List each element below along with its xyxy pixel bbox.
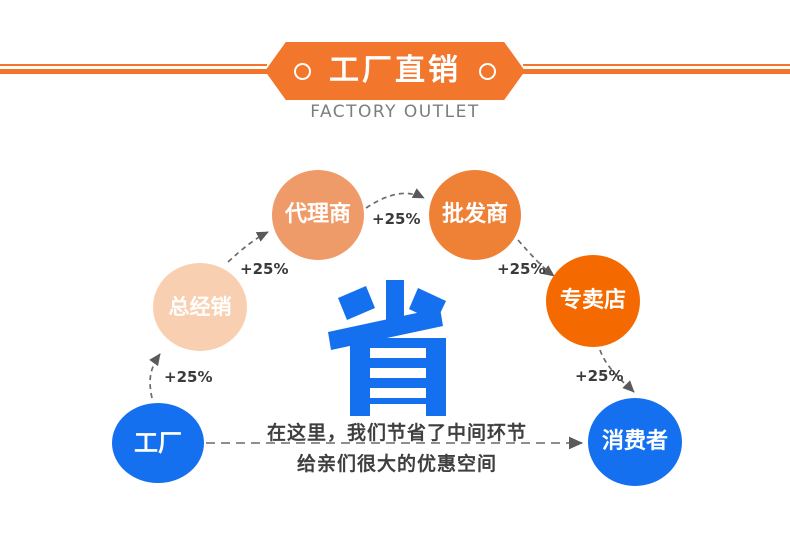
banner-hexagon: 工厂直销 xyxy=(265,42,525,100)
node-wholesaler[interactable]: 批发商 xyxy=(429,170,521,260)
tagline: 在这里，我们节省了中间环节 给亲们很大的优惠空间 xyxy=(232,418,562,480)
node-store[interactable]: 专卖店 xyxy=(546,255,640,347)
ring-icon-right xyxy=(479,63,496,80)
node-consumer-label: 消费者 xyxy=(602,431,668,453)
promo-banner-page: 工厂直销 FACTORY OUTLET xyxy=(0,0,790,549)
node-general-distributor[interactable]: 总经销 xyxy=(153,263,247,351)
markup-label-store-to-consumer: +25% xyxy=(575,367,623,385)
tagline-line-1: 在这里，我们节省了中间环节 xyxy=(232,418,562,449)
rule-thick-right xyxy=(523,69,790,74)
rule-thin-right xyxy=(523,64,790,66)
banner-subtitle: FACTORY OUTLET xyxy=(0,102,790,122)
arrow-agent-to-wholesaler xyxy=(366,193,424,208)
markup-label-general-to-agent: +25% xyxy=(240,260,288,278)
node-general-distributor-label: 总经销 xyxy=(169,297,232,318)
node-wholesaler-label: 批发商 xyxy=(442,204,508,226)
node-store-label: 专卖店 xyxy=(560,290,626,312)
node-agent[interactable]: 代理商 xyxy=(272,170,364,260)
rule-thin-left xyxy=(0,64,267,66)
tagline-line-2: 给亲们很大的优惠空间 xyxy=(232,449,562,480)
banner-rule-left xyxy=(0,64,275,76)
banner-rule-right xyxy=(515,64,790,76)
center-save-character xyxy=(322,268,482,428)
node-agent-label: 代理商 xyxy=(285,204,351,226)
banner-title: 工厂直销 xyxy=(329,56,461,86)
markup-label-wholesaler-to-store: +25% xyxy=(497,260,545,278)
supply-chain-diagram: 工厂 总经销 代理商 批发商 专卖店 消费者 +25% +25% +25% +2… xyxy=(0,140,790,549)
node-factory[interactable]: 工厂 xyxy=(112,403,204,483)
node-consumer[interactable]: 消费者 xyxy=(588,398,682,486)
rule-thick-left xyxy=(0,69,267,74)
ring-icon-left xyxy=(294,63,311,80)
header-banner: 工厂直销 FACTORY OUTLET xyxy=(0,0,790,140)
node-factory-label: 工厂 xyxy=(134,431,182,455)
markup-label-factory-to-general: +25% xyxy=(164,368,212,386)
arrow-factory-to-general xyxy=(150,354,160,398)
markup-label-agent-to-wholesaler: +25% xyxy=(372,210,420,228)
arrow-general-to-agent xyxy=(228,232,268,262)
